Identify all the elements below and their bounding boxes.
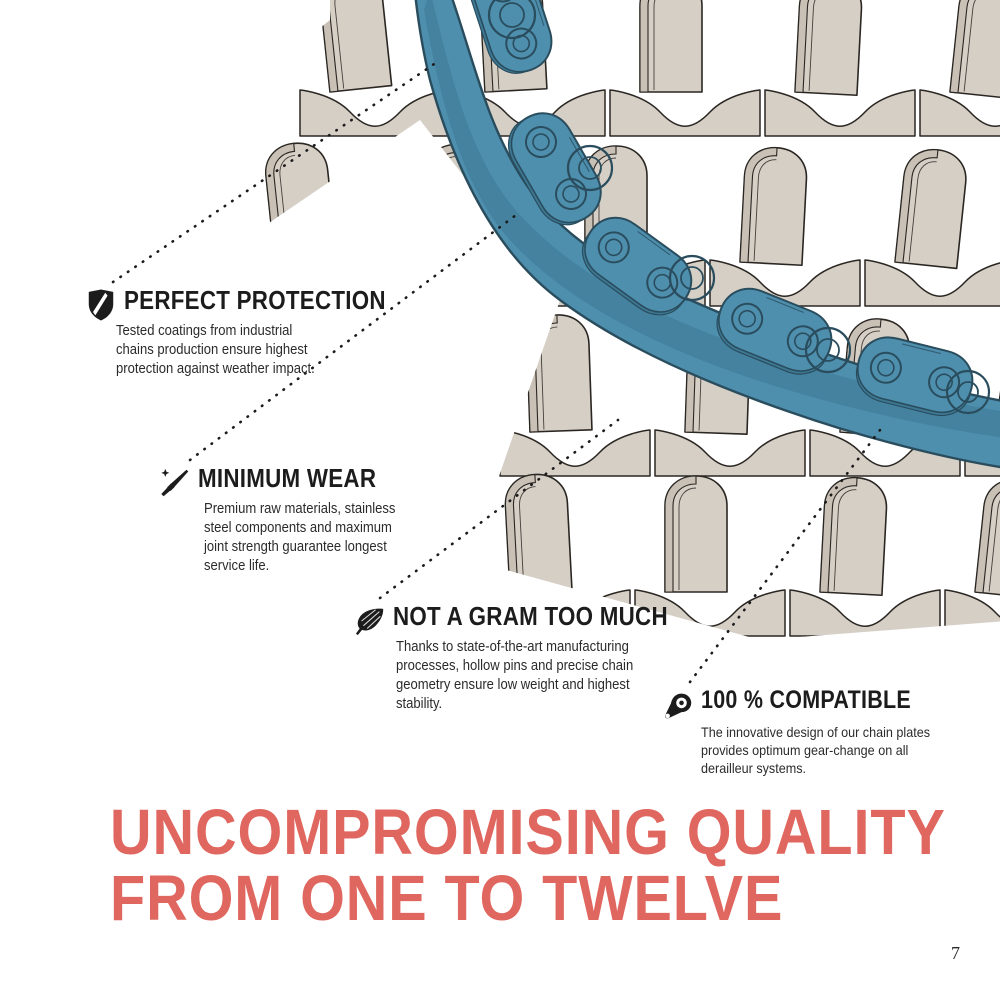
- callout-body: Thanks to state-of-the-art manufacturing…: [396, 638, 666, 713]
- headline-line-2: FROM ONE TO TWELVE: [110, 866, 946, 932]
- callout-perfect-protection: PERFECT PROTECTION Tested coatings from …: [86, 287, 428, 379]
- page-headline: UNCOMPROMISING QUALITY FROM ONE TO TWELV…: [110, 800, 946, 932]
- headline-line-1: UNCOMPROMISING QUALITY: [110, 800, 946, 866]
- callout-100-percent-compatible: 100 % COMPATIBLE The innovative design o…: [663, 688, 986, 778]
- sprocket-row-back: [250, 0, 1000, 300]
- feather-icon: [355, 605, 385, 637]
- leader-line-protection: [113, 60, 440, 282]
- callout-title: MINIMUM WEAR: [198, 465, 376, 491]
- callout-body: The innovative design of our chain plate…: [701, 723, 958, 778]
- sprocket-row-2: [245, 140, 1000, 306]
- callout-not-a-gram-too-much: NOT A GRAM TOO MUCH Thanks to state-of-t…: [355, 603, 713, 713]
- sword-icon: [160, 467, 190, 499]
- callout-body: Tested coatings from industrial chains p…: [116, 322, 328, 379]
- sprocket-row-1: [300, 0, 1000, 136]
- sprocket-row-3: [345, 311, 1000, 476]
- callout-title: NOT A GRAM TOO MUCH: [393, 603, 668, 629]
- chain-link-icon: [663, 690, 693, 722]
- page-number: 7: [951, 943, 960, 964]
- bicycle-chain: [412, 0, 1000, 470]
- shield-icon: [86, 289, 116, 321]
- callout-minimum-wear: MINIMUM WEAR Premium raw materials, stai…: [160, 465, 439, 575]
- page-root: PERFECT PROTECTION Tested coatings from …: [0, 0, 1000, 1000]
- callout-title: 100 % COMPATIBLE: [701, 688, 911, 713]
- callout-title: PERFECT PROTECTION: [124, 287, 386, 313]
- leader-line-compat: [690, 430, 880, 682]
- callout-body: Premium raw materials, stainless steel c…: [204, 500, 416, 575]
